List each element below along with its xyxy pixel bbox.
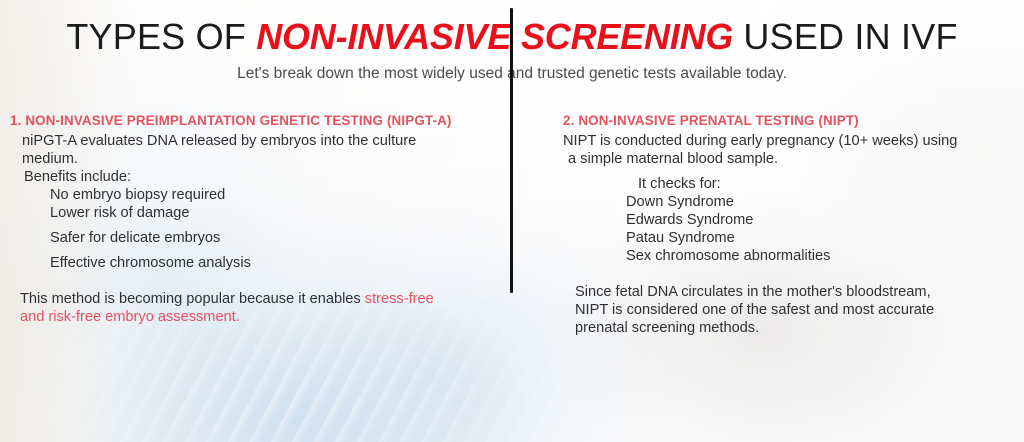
- closing-plain-text: This method is becoming popular because …: [20, 291, 365, 307]
- benefits-list: No embryo biopsy required Lower risk of …: [10, 186, 500, 272]
- list-item: Lower risk of damage: [10, 204, 500, 222]
- section-2-checks-label: It checks for:: [563, 175, 1013, 193]
- list-spacer: [10, 247, 500, 254]
- section-1-lead-line-2: medium.: [10, 150, 500, 168]
- list-item: Down Syndrome: [563, 193, 1013, 211]
- section-1-spacer: [10, 272, 500, 290]
- section-1-lead-line-1: niPGT-A evaluates DNA released by embryo…: [10, 132, 500, 150]
- section-1-heading: 1. NON-INVASIVE PREIMPLANTATION GENETIC …: [10, 112, 500, 130]
- title-segment-trailing: USED IN IVF: [733, 16, 957, 57]
- list-item: No embryo biopsy required: [10, 186, 500, 204]
- section-2-heading: 2. NON-INVASIVE PRENATAL TESTING (NIPT): [563, 112, 1013, 130]
- closing-highlight-1: stress-free: [365, 291, 434, 307]
- list-item: Effective chromosome analysis: [10, 254, 500, 272]
- title-segment-leading: TYPES OF: [66, 16, 256, 57]
- section-2-closing-line-1: Since fetal DNA circulates in the mother…: [563, 283, 1013, 301]
- infographic-poster: TYPES OF NON-INVASIVE SCREENING USED IN …: [0, 0, 1024, 442]
- section-2-spacer-bottom: [563, 265, 1013, 283]
- column-divider: [510, 8, 513, 293]
- list-spacer: [10, 222, 500, 229]
- section-2-closing-line-2: NIPT is considered one of the safest and…: [563, 301, 1013, 319]
- list-item: Sex chromosome abnormalities: [563, 247, 1013, 265]
- list-item: Patau Syndrome: [563, 229, 1013, 247]
- section-2-spacer-top: [563, 168, 1013, 175]
- section-nipt: 2. NON-INVASIVE PRENATAL TESTING (NIPT) …: [563, 112, 1013, 337]
- list-item: Safer for delicate embryos: [10, 229, 500, 247]
- title-segment-accent: NON-INVASIVE SCREENING: [256, 16, 733, 57]
- section-2-closing-line-3: prenatal screening methods.: [563, 319, 1013, 337]
- section-2-lead-line-2: a simple maternal blood sample.: [563, 150, 1013, 168]
- conditions-list: Down Syndrome Edwards Syndrome Patau Syn…: [563, 193, 1013, 265]
- section-1-closing-line-2: and risk-free embryo assessment.: [10, 308, 500, 326]
- section-nipgt-a: 1. NON-INVASIVE PREIMPLANTATION GENETIC …: [10, 112, 500, 326]
- section-2-lead-line-1: NIPT is conducted during early pregnancy…: [563, 132, 1013, 150]
- list-item: Edwards Syndrome: [563, 211, 1013, 229]
- section-1-closing-line-1: This method is becoming popular because …: [10, 290, 500, 308]
- section-1-benefits-label: Benefits include:: [10, 168, 500, 186]
